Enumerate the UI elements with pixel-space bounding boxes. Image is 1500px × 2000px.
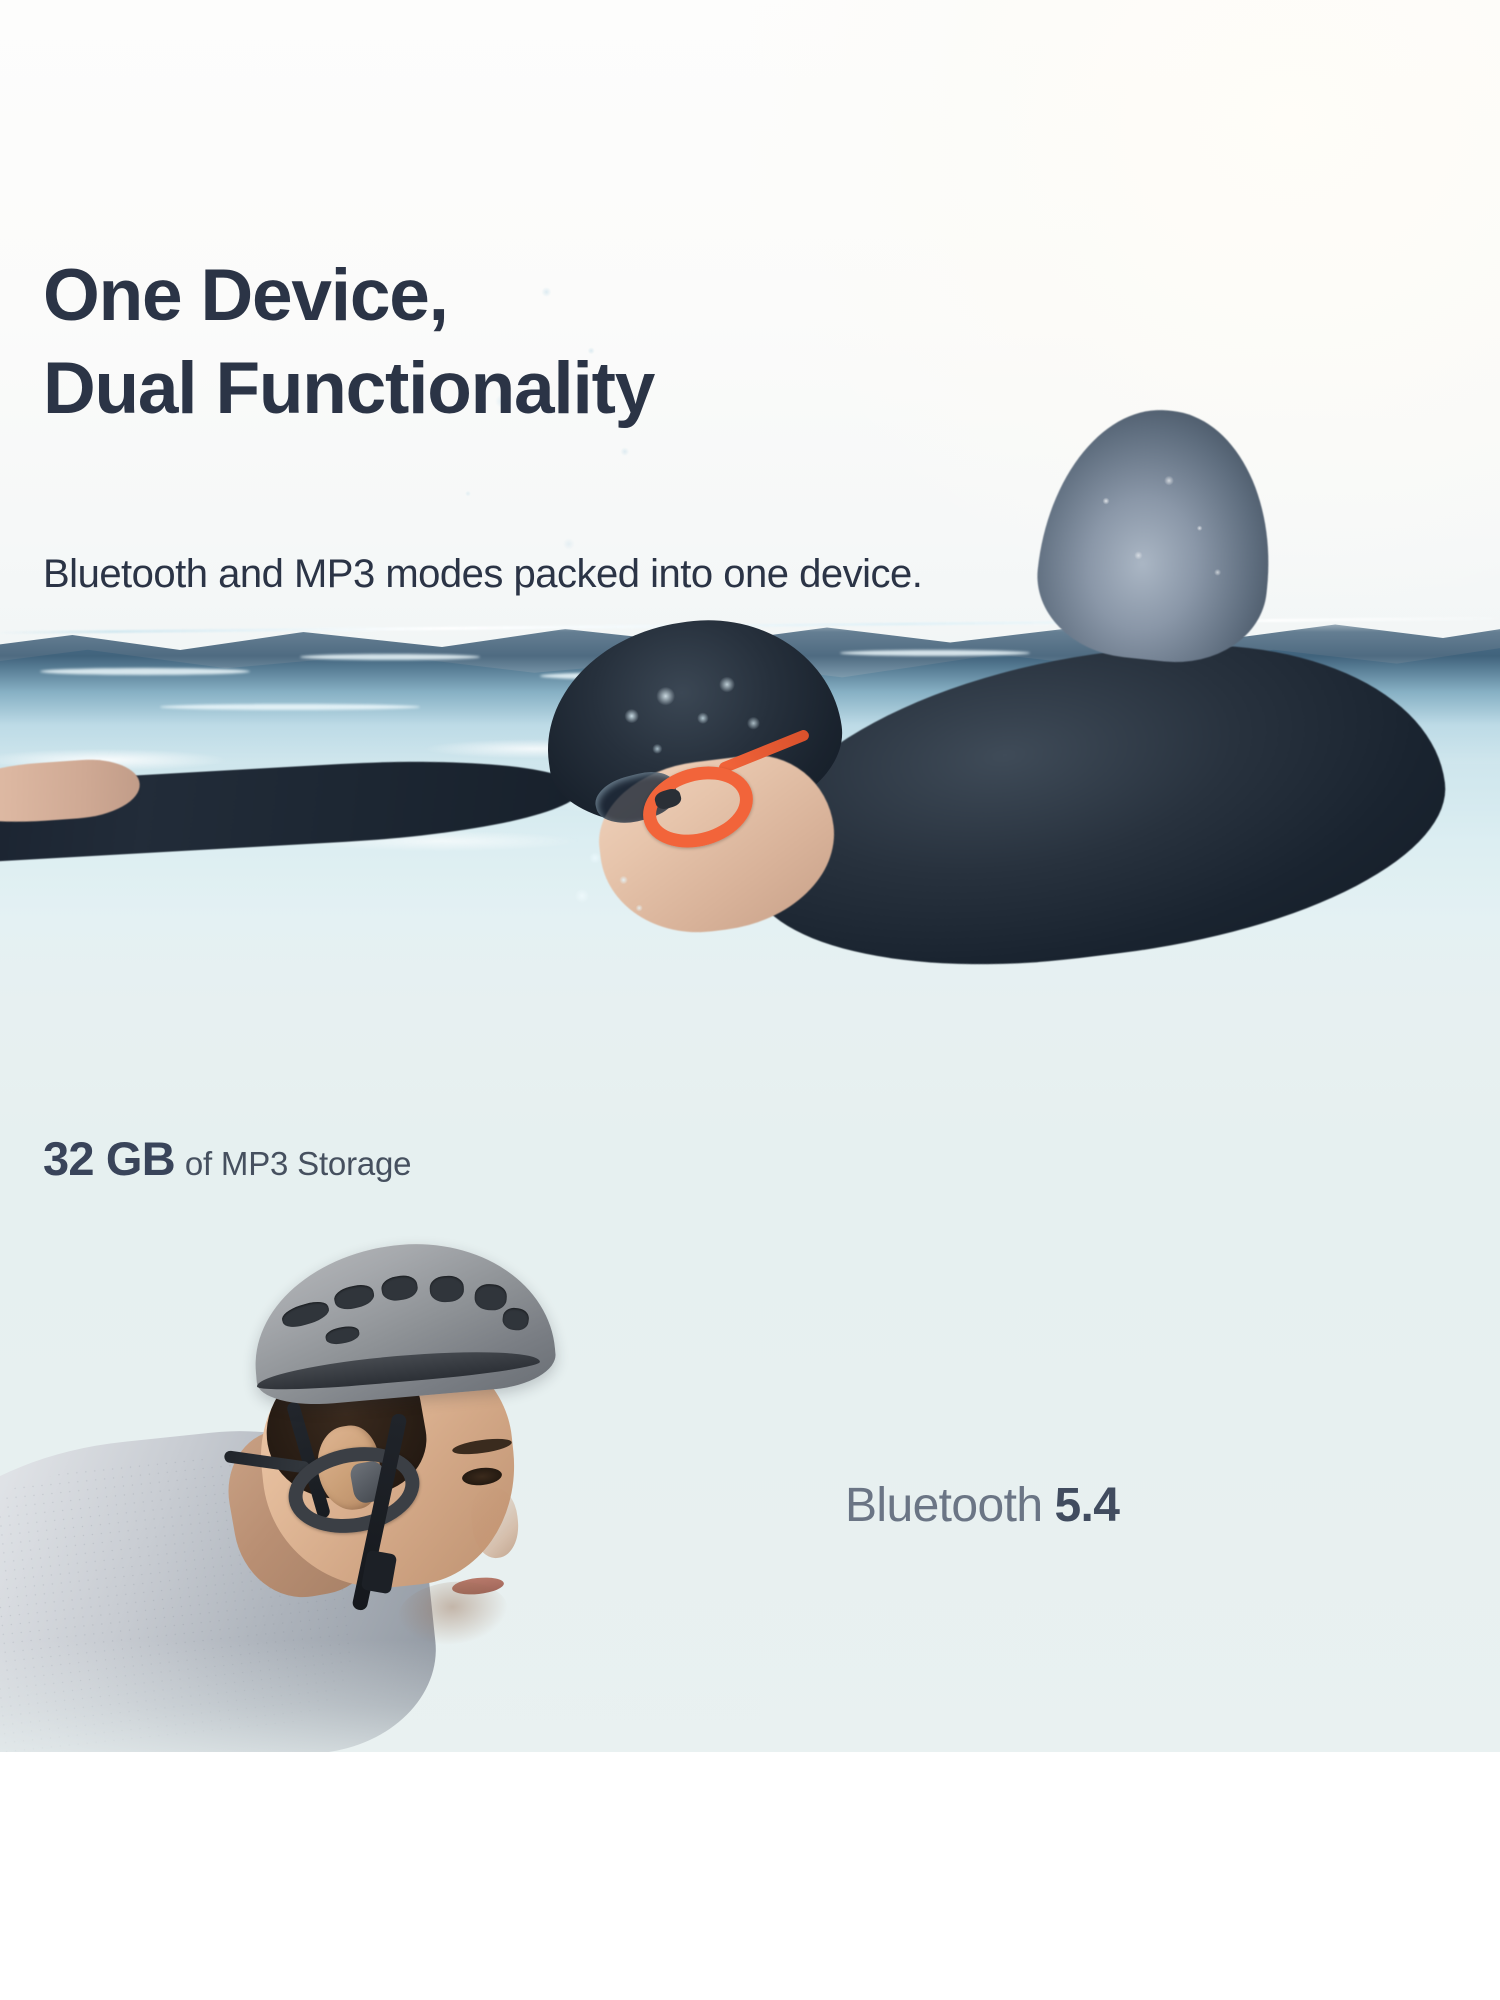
water-streak bbox=[300, 654, 480, 660]
cyclist-helmet bbox=[246, 1232, 558, 1410]
water-scene bbox=[0, 600, 1500, 1080]
stat-storage-value: 32 GB bbox=[43, 1132, 175, 1185]
water-streak bbox=[980, 718, 1220, 725]
water-streak bbox=[40, 668, 250, 675]
cyclist-headphone-earhook bbox=[282, 1437, 427, 1543]
cyclist-shoulder-shadow bbox=[0, 1514, 182, 1752]
helmet-vent bbox=[332, 1282, 376, 1312]
product-feature-panel: One Device, Dual Functionality Bluetooth… bbox=[0, 0, 1500, 1752]
stat-bluetooth-value: 5.4 bbox=[1054, 1479, 1119, 1532]
cyclist-roadside bbox=[0, 1230, 700, 1752]
cyclist-eye bbox=[461, 1466, 503, 1487]
cyclist-lips bbox=[451, 1575, 504, 1596]
cyclist-nose bbox=[468, 1486, 521, 1560]
cyclist-fade-overlay bbox=[0, 1640, 760, 1752]
swimmer-elbow-droplets bbox=[1070, 450, 1250, 620]
page-title: One Device, Dual Functionality bbox=[43, 250, 654, 435]
water-streak bbox=[1100, 676, 1350, 684]
stat-storage-label: of MP3 Storage bbox=[185, 1145, 412, 1182]
cyclist-head bbox=[250, 1330, 526, 1600]
page-subtitle: Bluetooth and MP3 modes packed into one … bbox=[43, 552, 922, 597]
cyclist-eyebrow bbox=[451, 1436, 512, 1457]
cyclist-neck bbox=[218, 1414, 395, 1607]
stat-bluetooth-version: Bluetooth5.4 bbox=[845, 1478, 1119, 1533]
cyclist-ear bbox=[312, 1422, 385, 1514]
stat-mp3-storage: 32 GBof MP3 Storage bbox=[43, 1131, 411, 1186]
water-line bbox=[0, 617, 1500, 635]
cyclist-helmet-vents bbox=[262, 1254, 542, 1377]
cyclist-jersey bbox=[0, 1412, 446, 1752]
water-streak bbox=[620, 710, 820, 716]
helmet-vent bbox=[380, 1273, 419, 1302]
stat-bluetooth-label: Bluetooth bbox=[845, 1479, 1042, 1532]
water-streak bbox=[540, 672, 770, 680]
helmet-vent bbox=[474, 1283, 507, 1311]
water-foam bbox=[0, 718, 1500, 858]
helmet-vent bbox=[280, 1298, 332, 1331]
helmet-vent bbox=[501, 1307, 529, 1332]
cyclist-helmet-buckle bbox=[361, 1550, 397, 1595]
cyclist-headphone-pad bbox=[349, 1459, 389, 1504]
water-streak bbox=[840, 650, 1030, 656]
helmet-vent bbox=[324, 1324, 360, 1346]
cyclist-helmet-strap-front bbox=[351, 1413, 407, 1612]
background-glow bbox=[750, 0, 1500, 600]
helmet-vent bbox=[429, 1275, 464, 1303]
cyclist-helmet-strap-rear bbox=[286, 1401, 332, 1520]
cyclist-headphone-band bbox=[224, 1450, 311, 1474]
water-streak bbox=[160, 704, 420, 710]
cyclist-chin-shadow bbox=[395, 1576, 511, 1649]
cyclist-helmet-rim bbox=[255, 1344, 540, 1395]
cyclist-hair bbox=[255, 1345, 435, 1510]
cyclist-jersey-texture bbox=[0, 1443, 363, 1752]
